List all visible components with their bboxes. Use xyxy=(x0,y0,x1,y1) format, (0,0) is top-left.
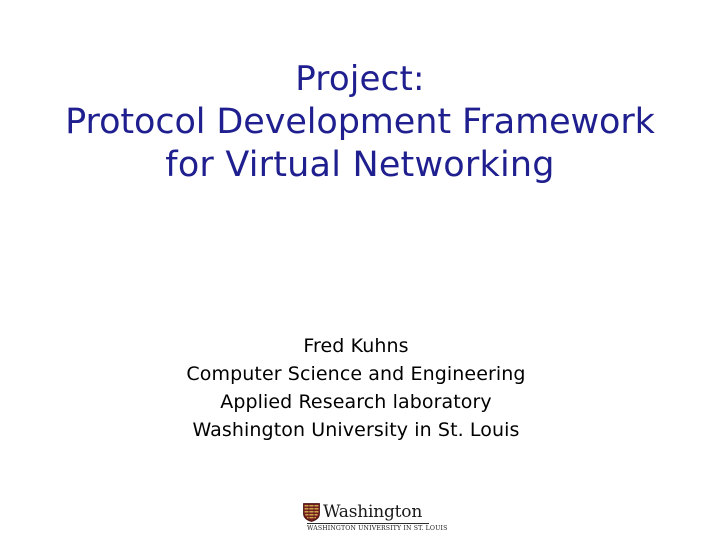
shield-crest-icon xyxy=(303,503,320,522)
laboratory-name: Applied Research laboratory xyxy=(0,388,712,416)
title-line-2: Protocol Development Framework xyxy=(0,101,720,144)
title-line-1: Project: xyxy=(0,58,720,101)
slide-subtitle-block: Fred Kuhns Computer Science and Engineer… xyxy=(0,332,712,444)
logo-wordmark: Washington xyxy=(323,503,422,522)
author-name: Fred Kuhns xyxy=(0,332,712,360)
department-name: Computer Science and Engineering xyxy=(0,360,712,388)
university-name: Washington University in St. Louis xyxy=(0,416,712,444)
slide-title: Project: Protocol Development Framework … xyxy=(0,58,720,187)
logo-subtitle: WASHINGTON UNIVERSITY IN ST. LOUIS xyxy=(307,524,429,533)
washington-university-logo: Washington WASHINGTON UNIVERSITY IN ST. … xyxy=(303,500,433,536)
logo-wordmark-row: Washington xyxy=(303,500,433,522)
slide-canvas: Project: Protocol Development Framework … xyxy=(0,0,720,540)
title-line-3: for Virtual Networking xyxy=(0,144,720,187)
